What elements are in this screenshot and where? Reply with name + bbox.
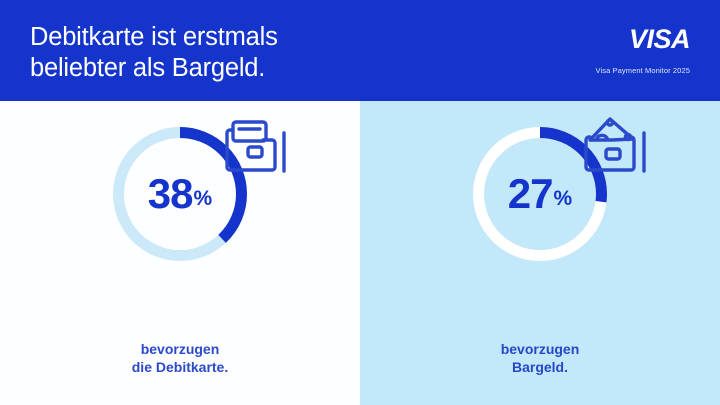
- wallet-cash-icon: [576, 109, 660, 193]
- panel-debit-card: 38 % bevorzugen die Debitkarte.: [0, 101, 360, 405]
- caption-cash: bevorzugen Bargeld.: [360, 340, 720, 376]
- page-title: Debitkarte ist erstmals beliebter als Ba…: [30, 22, 450, 84]
- caption-debit-card: bevorzugen die Debitkarte.: [0, 340, 360, 376]
- infographic-root: Debitkarte ist erstmals beliebter als Ba…: [0, 0, 720, 405]
- panels-container: 38 % bevorzugen die Debitkarte.: [0, 101, 720, 405]
- donut-value-cash: 27: [508, 173, 553, 215]
- visa-logo: VISA: [629, 24, 690, 55]
- donut-percent-symbol-debit-card: %: [194, 188, 213, 209]
- donut-value-debit-card: 38: [148, 173, 193, 215]
- panel-cash: 27 % bevorzugen Bargeld.: [360, 101, 720, 405]
- donut-percent-symbol-cash: %: [554, 188, 573, 209]
- source-label: Visa Payment Monitor 2025: [596, 66, 691, 75]
- header-banner: Debitkarte ist erstmals beliebter als Ba…: [0, 0, 720, 101]
- wallet-card-icon: [216, 109, 300, 193]
